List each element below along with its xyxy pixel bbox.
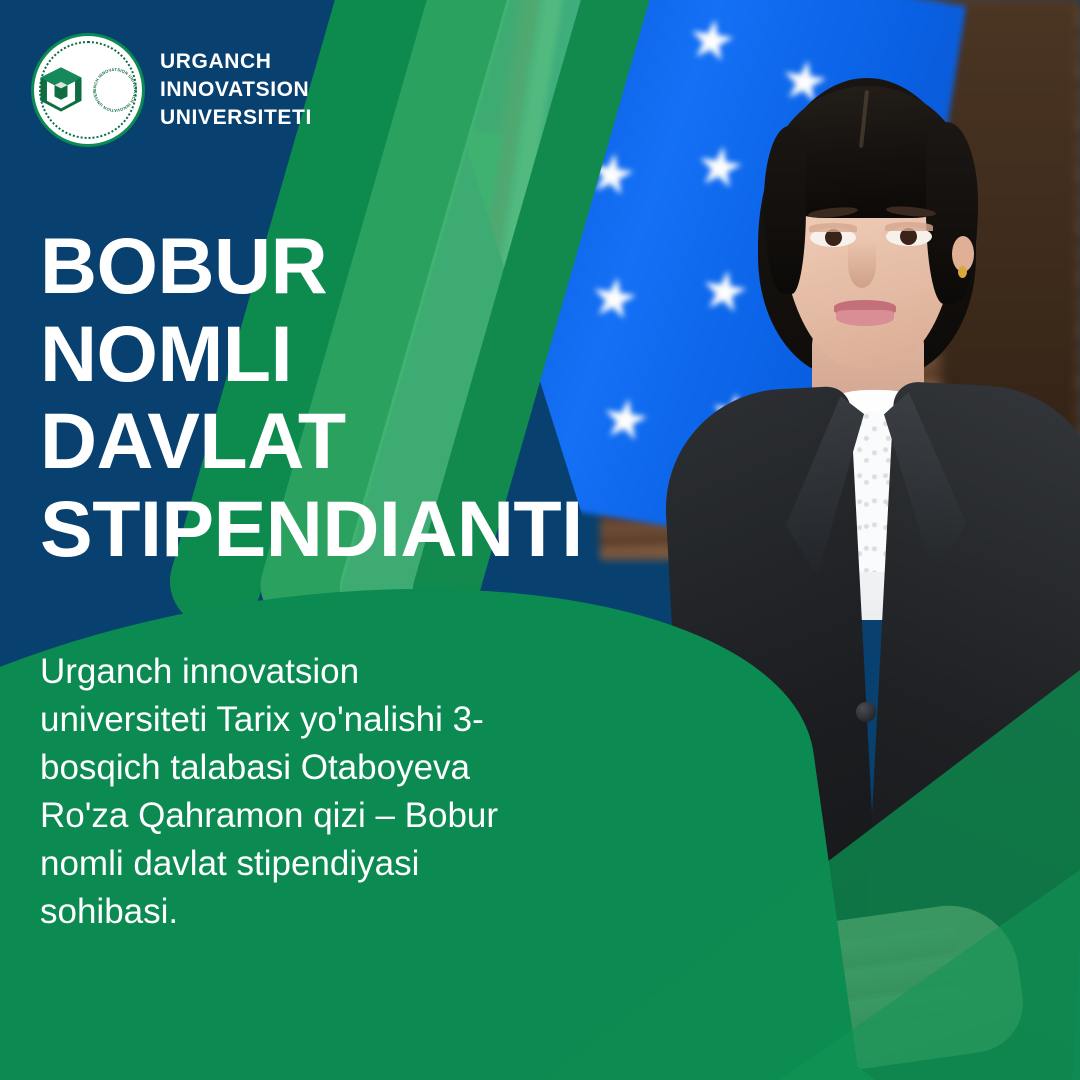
logo-name-line: INNOVATSION xyxy=(160,76,312,104)
body-copy-line: bosqich talabasi Otaboyeva xyxy=(40,744,620,792)
body-copy-line: Urganch innovatsion xyxy=(40,648,620,696)
body-copy-line: sohibasi. xyxy=(40,888,620,936)
headline-line: DAVLAT xyxy=(40,397,583,485)
logo-wordmark: URGANCH INNOVATSION UNIVERSITETI xyxy=(160,48,312,131)
headline-line: NOMLI xyxy=(40,310,583,398)
body-copy-line: universiteti Tarix yo'nalishi 3- xyxy=(40,696,620,744)
logo-lockup[interactable]: URGANCH INNOVATSION UNIVERSITY URGANCH I… xyxy=(34,36,312,144)
university-emblem-icon: URGANCH INNOVATSION UNIVERSITY URGANCH I… xyxy=(34,36,142,144)
body-copy: Urganch innovatsion universiteti Tarix y… xyxy=(40,648,620,936)
logo-name-line: UNIVERSITETI xyxy=(160,104,312,132)
headline: BOBUR NOMLI DAVLAT STIPENDIANTI xyxy=(40,222,583,573)
emblem-ring-text: URGANCH INNOVATSION UNIVERSITY URGANCH I… xyxy=(88,54,142,126)
body-copy-line: Ro'za Qahramon qizi – Bobur xyxy=(40,792,620,840)
headline-line: STIPENDIANTI xyxy=(40,485,583,573)
body-copy-line: nomli davlat stipendiyasi xyxy=(40,840,620,888)
headline-line: BOBUR xyxy=(40,222,583,310)
logo-name-line: URGANCH xyxy=(160,48,312,76)
svg-text:URGANCH INNOVATSION UNIVERSITY: URGANCH INNOVATSION UNIVERSITY xyxy=(88,59,138,91)
poster-canvas: URGANCH INNOVATSION UNIVERSITY URGANCH I… xyxy=(0,0,1080,1080)
emblem-cube-mark xyxy=(34,54,88,126)
